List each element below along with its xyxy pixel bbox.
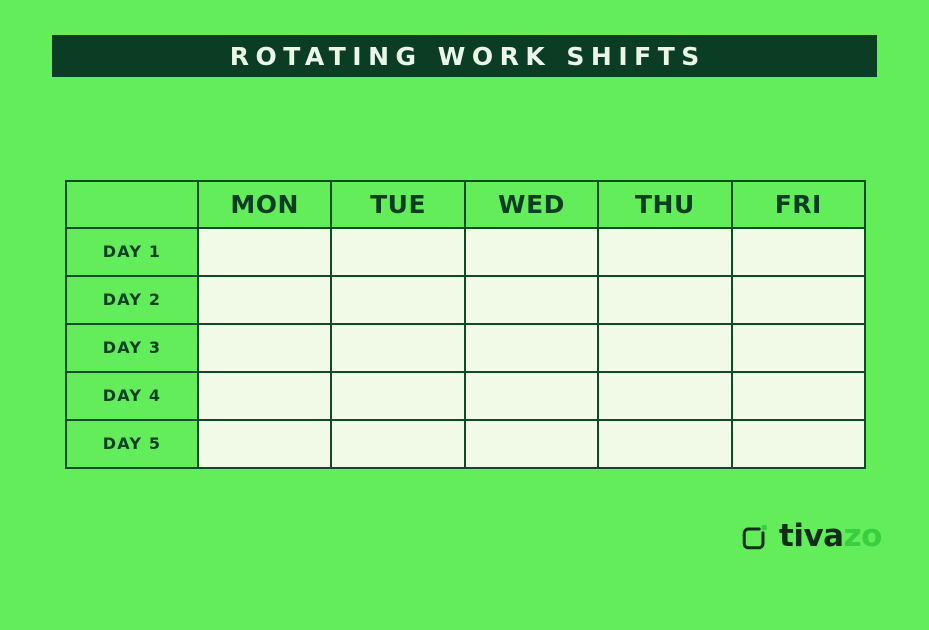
row-label: DAY 1 <box>67 244 197 260</box>
row-header-day-1: DAY 1 <box>66 228 198 276</box>
column-header-label: THU <box>599 192 730 217</box>
row-label: DAY 5 <box>67 436 197 452</box>
shift-input[interactable] <box>466 421 597 467</box>
shift-cell-day5-tue[interactable] <box>331 420 464 468</box>
shift-input[interactable] <box>466 277 597 323</box>
row-header-day-2: DAY 2 <box>66 276 198 324</box>
shift-cell-day2-wed[interactable] <box>465 276 598 324</box>
shift-cell-day2-mon[interactable] <box>198 276 331 324</box>
row-label: DAY 4 <box>67 388 197 404</box>
shift-cell-day3-thu[interactable] <box>598 324 731 372</box>
shift-cell-day5-fri[interactable] <box>732 420 865 468</box>
shift-input[interactable] <box>199 277 330 323</box>
shift-cell-day3-fri[interactable] <box>732 324 865 372</box>
column-header-label: WED <box>466 192 597 217</box>
row-header-day-4: DAY 4 <box>66 372 198 420</box>
shift-input[interactable] <box>599 373 730 419</box>
shift-input[interactable] <box>733 325 864 371</box>
shift-cell-day3-tue[interactable] <box>331 324 464 372</box>
table-row: DAY 4 <box>66 372 865 420</box>
rounded-square-bracket-icon <box>740 522 770 552</box>
row-header-day-5: DAY 5 <box>66 420 198 468</box>
page-title: ROTATING WORK SHIFTS <box>223 42 706 71</box>
shift-input[interactable] <box>599 229 730 275</box>
shift-cell-day4-thu[interactable] <box>598 372 731 420</box>
shift-cell-day1-wed[interactable] <box>465 228 598 276</box>
shift-input[interactable] <box>733 277 864 323</box>
table-row: DAY 2 <box>66 276 865 324</box>
column-header-label: MON <box>199 192 330 217</box>
rotating-shift-table: MON TUE WED THU FRI DAY 1 <box>65 180 866 469</box>
shift-cell-day4-fri[interactable] <box>732 372 865 420</box>
shift-input[interactable] <box>733 229 864 275</box>
shift-input[interactable] <box>733 373 864 419</box>
shift-input[interactable] <box>199 373 330 419</box>
shift-input[interactable] <box>199 421 330 467</box>
shift-input[interactable] <box>599 421 730 467</box>
shift-input[interactable] <box>466 229 597 275</box>
shift-cell-day4-tue[interactable] <box>331 372 464 420</box>
column-header-mon: MON <box>198 181 331 228</box>
shift-input[interactable] <box>199 325 330 371</box>
brand-logo: tivazo <box>740 521 882 552</box>
shift-input[interactable] <box>466 373 597 419</box>
shift-cell-day5-thu[interactable] <box>598 420 731 468</box>
shift-cell-day1-tue[interactable] <box>331 228 464 276</box>
shift-cell-day3-mon[interactable] <box>198 324 331 372</box>
shift-input[interactable] <box>332 229 463 275</box>
shift-cell-day2-thu[interactable] <box>598 276 731 324</box>
shift-cell-day1-fri[interactable] <box>732 228 865 276</box>
shift-cell-day4-wed[interactable] <box>465 372 598 420</box>
shift-cell-day1-thu[interactable] <box>598 228 731 276</box>
shift-cell-day2-tue[interactable] <box>331 276 464 324</box>
shift-input[interactable] <box>332 325 463 371</box>
column-header-label: TUE <box>332 192 463 217</box>
row-label: DAY 3 <box>67 340 197 356</box>
shift-cell-day2-fri[interactable] <box>732 276 865 324</box>
brand-wordmark: tivazo <box>779 521 882 552</box>
shift-cell-day1-mon[interactable] <box>198 228 331 276</box>
row-header-day-3: DAY 3 <box>66 324 198 372</box>
shift-input[interactable] <box>199 229 330 275</box>
table-header-row: MON TUE WED THU FRI <box>66 181 865 228</box>
table-row: DAY 5 <box>66 420 865 468</box>
column-header-wed: WED <box>465 181 598 228</box>
row-label: DAY 2 <box>67 292 197 308</box>
brand-word-accent: zo <box>844 518 882 554</box>
shift-input[interactable] <box>332 421 463 467</box>
shift-input[interactable] <box>332 373 463 419</box>
shift-cell-day4-mon[interactable] <box>198 372 331 420</box>
shift-input[interactable] <box>733 421 864 467</box>
shift-input[interactable] <box>332 277 463 323</box>
column-header-tue: TUE <box>331 181 464 228</box>
table-row: DAY 1 <box>66 228 865 276</box>
shift-cell-day5-wed[interactable] <box>465 420 598 468</box>
brand-word-primary: tiva <box>779 518 844 554</box>
shift-cell-day3-wed[interactable] <box>465 324 598 372</box>
column-header-fri: FRI <box>732 181 865 228</box>
column-header-thu: THU <box>598 181 731 228</box>
table-corner-cell <box>66 181 198 228</box>
table-row: DAY 3 <box>66 324 865 372</box>
column-header-label: FRI <box>733 192 864 217</box>
shift-input[interactable] <box>599 277 730 323</box>
shift-input[interactable] <box>599 325 730 371</box>
shift-cell-day5-mon[interactable] <box>198 420 331 468</box>
title-banner: ROTATING WORK SHIFTS <box>52 35 877 77</box>
shift-input[interactable] <box>466 325 597 371</box>
